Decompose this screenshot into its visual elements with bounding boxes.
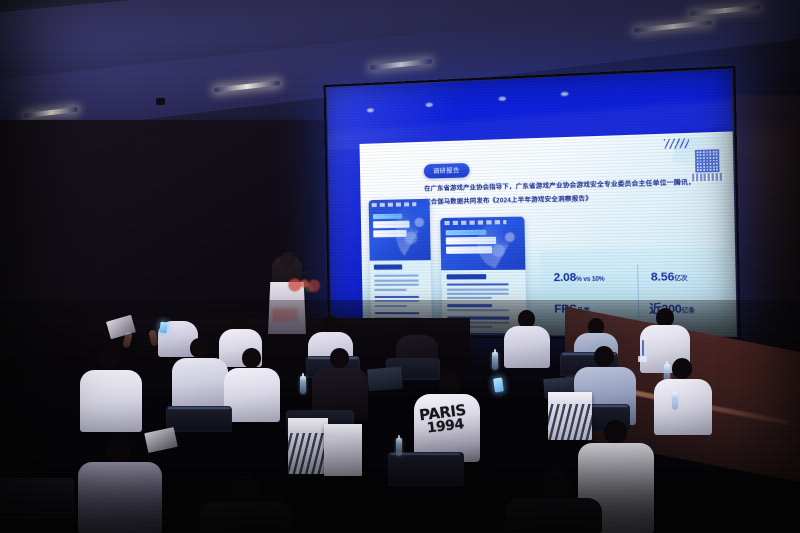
poster-brand-logos	[444, 220, 506, 225]
water-bottle-on-chair	[396, 438, 402, 456]
poster-subtitle-bar	[446, 274, 486, 279]
laptop	[367, 367, 403, 392]
water-bottle-on-chair	[492, 352, 498, 370]
stage-flower-arrangement	[288, 278, 322, 292]
chair-highlight	[168, 407, 230, 409]
conference-tote-bag	[324, 424, 362, 476]
qr-code-icon	[695, 149, 720, 172]
led-presentation-screen: 调研报告 在广东省游戏产业协会指导下，广东省游戏产业协会游戏安全专业委员会主任单…	[327, 70, 737, 337]
chair-back	[388, 452, 464, 486]
slide-heading-line-2: 联合伽马数据共同发布《2024上半年游戏安全洞察报告》	[424, 193, 592, 206]
conference-tote-bag	[288, 418, 328, 474]
water-bottle-on-chair	[672, 392, 678, 410]
stat-detections: 8.56亿次	[651, 266, 688, 286]
stat-cheat-rate: 2.08% vs 10%	[553, 267, 604, 286]
chair-back	[166, 406, 232, 432]
slide-section-badge: 调研报告	[424, 163, 469, 179]
phone-screen-glow	[159, 322, 167, 334]
chair-back	[0, 478, 74, 518]
qr-caption-text	[692, 173, 723, 181]
water-bottle-on-chair	[300, 376, 306, 394]
ceiling-camera-icon	[156, 98, 165, 105]
tote-top-band	[548, 392, 592, 404]
lanyard	[642, 340, 644, 356]
poster-title-block	[445, 230, 496, 256]
tote-top-band	[288, 418, 328, 433]
conference-tote-bag	[548, 392, 592, 440]
poster-hero-artwork	[369, 199, 431, 261]
poster-subtitle-bar	[373, 264, 402, 269]
poster-brand-logos	[372, 202, 417, 207]
conference-hall-scene: 调研报告 在广东省游戏产业协会指导下，广东省游戏产业协会游戏安全专业委员会主任单…	[0, 0, 800, 533]
phone-screen-glow	[493, 377, 504, 392]
attendee-badge	[638, 356, 647, 362]
poster-hero-artwork	[440, 217, 525, 271]
presenter-head	[280, 252, 295, 267]
slide-hatch-icon	[664, 138, 689, 148]
poster-title-block	[372, 214, 409, 240]
tote-top-band	[324, 424, 362, 438]
